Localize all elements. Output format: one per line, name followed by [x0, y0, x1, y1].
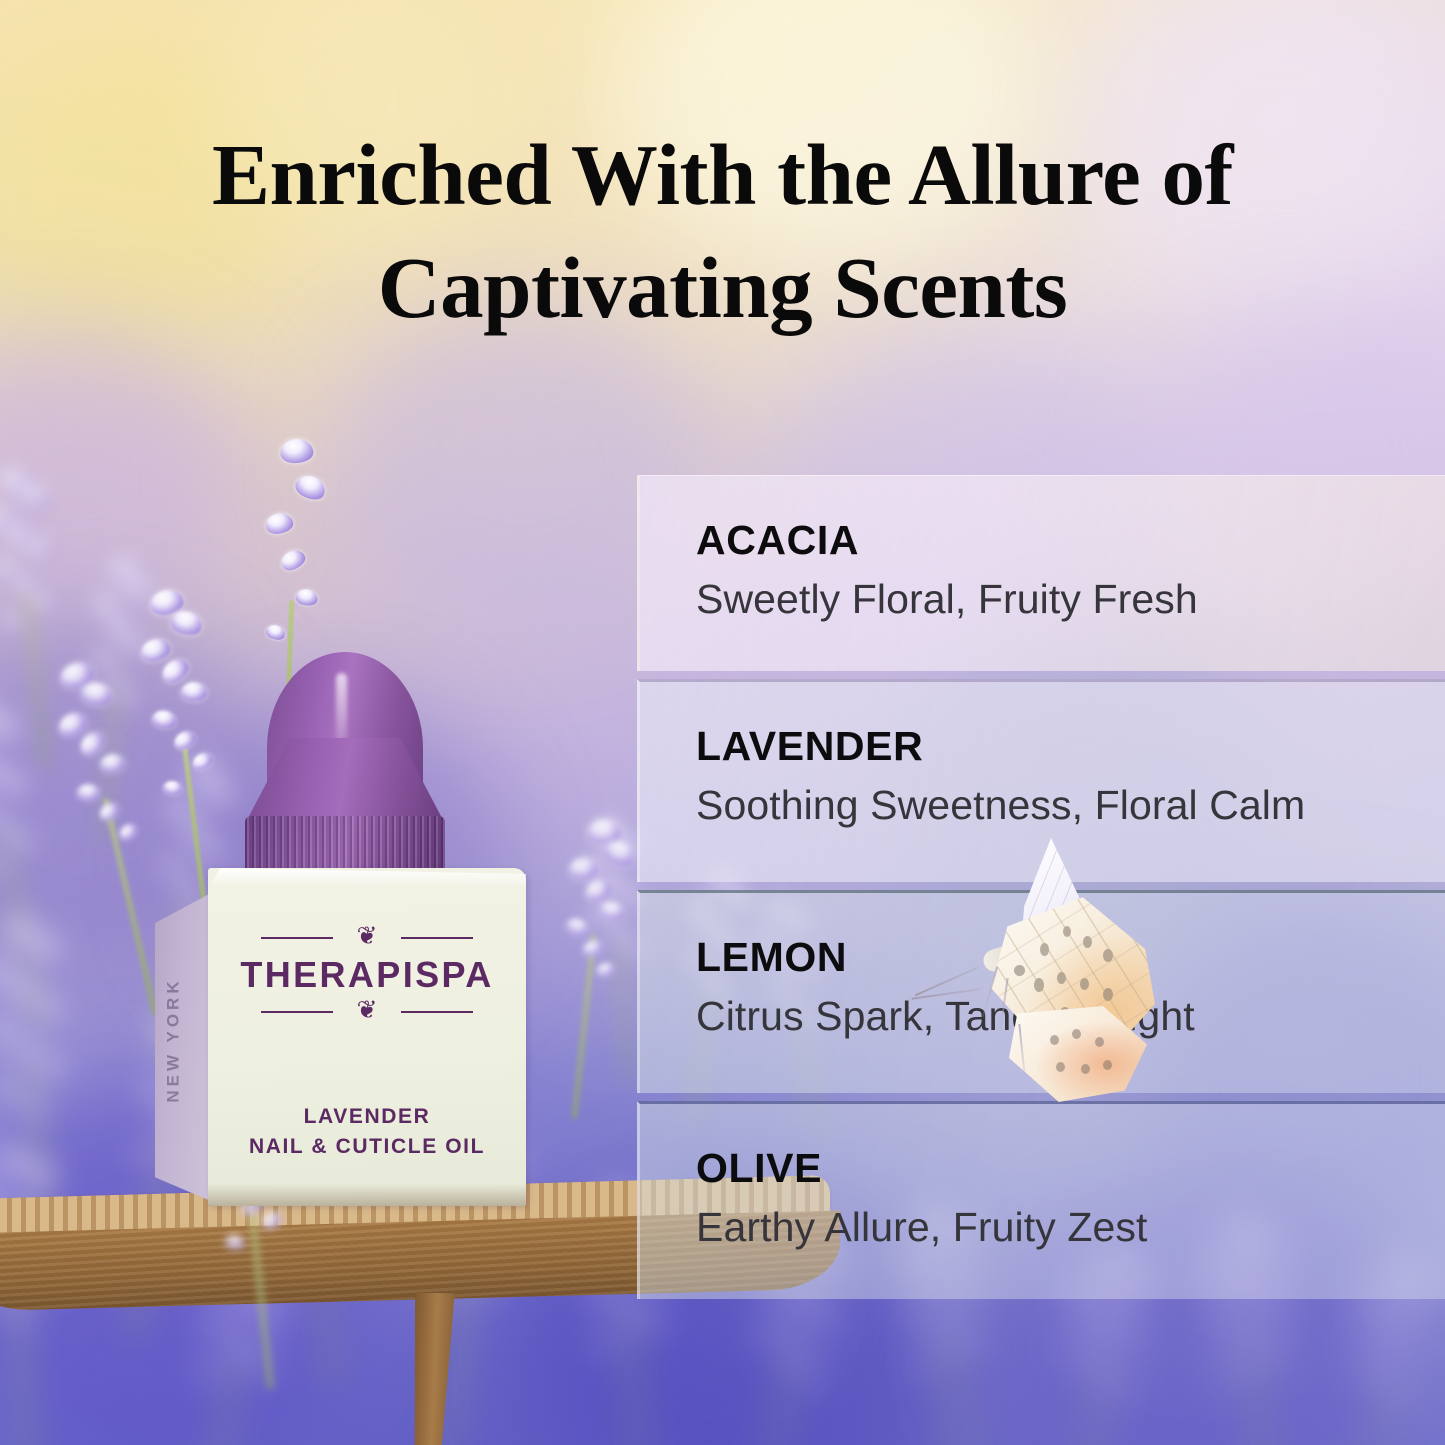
scent-name: LAVENDER [696, 726, 1445, 767]
title-line-2: Captivating Scents [0, 231, 1445, 344]
scent-description: Earthy Allure, Fruity Zest [696, 1205, 1445, 1249]
scent-name: OLIVE [696, 1148, 1445, 1189]
ornament-knot-icon: ❦ [357, 924, 378, 948]
page-title: Enriched With the Allure of Captivating … [0, 118, 1445, 344]
ornament-rule-left [261, 937, 333, 939]
ornament-knot-icon: ❦ [357, 998, 378, 1022]
title-line-1: Enriched With the Allure of [212, 126, 1233, 223]
ornament-rule-right [401, 1011, 473, 1013]
promo-image: NEW YORK ❦ THERAPISPA ❦ LAVENDER NAIL & … [0, 0, 1445, 1445]
box-front-panel: ❦ THERAPISPA ❦ LAVENDER NAIL & CUTICLE O… [208, 868, 526, 1206]
label-ornament-top: ❦ [261, 924, 473, 950]
product-variant-name: LAVENDER [208, 1102, 526, 1132]
butterfly-icon [955, 838, 1190, 1106]
ornament-rule-left [261, 1011, 333, 1013]
brand-name: THERAPISPA [208, 957, 526, 993]
lavender-stem [572, 934, 596, 1120]
label-ornament-bottom: ❦ [261, 998, 473, 1024]
box-side-text: NEW YORK [164, 977, 184, 1102]
scent-item-acacia[interactable]: ACACIA Sweetly Floral, Fruity Fresh [637, 475, 1445, 671]
scent-name: ACACIA [696, 520, 1445, 561]
lavender-stem [249, 1204, 273, 1390]
product-bottle: NEW YORK ❦ THERAPISPA ❦ LAVENDER NAIL & … [155, 620, 555, 1200]
product-type-label: NAIL & CUTICLE OIL [208, 1132, 526, 1162]
scent-description: Sweetly Floral, Fruity Fresh [696, 577, 1445, 621]
ornament-rule-right [401, 937, 473, 939]
scent-item-olive[interactable]: OLIVE Earthy Allure, Fruity Zest [637, 1101, 1445, 1299]
scent-description: Soothing Sweetness, Floral Calm [696, 783, 1445, 827]
box-side-panel: NEW YORK [155, 892, 213, 1202]
